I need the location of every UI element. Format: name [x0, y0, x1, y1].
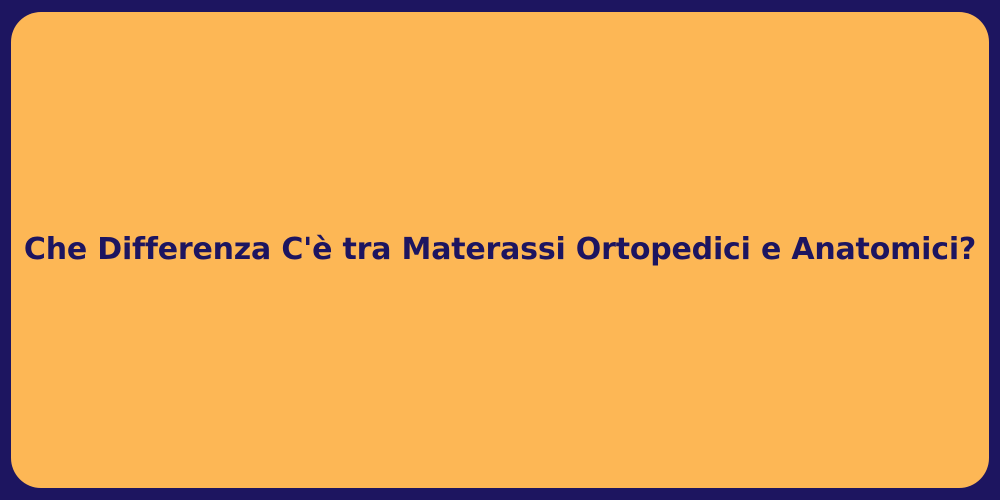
hero-card: Che Differenza C'è tra Materassi Ortoped… [11, 12, 989, 488]
page-frame: Che Differenza C'è tra Materassi Ortoped… [0, 0, 1000, 500]
page-title: Che Differenza C'è tra Materassi Ortoped… [24, 231, 976, 269]
